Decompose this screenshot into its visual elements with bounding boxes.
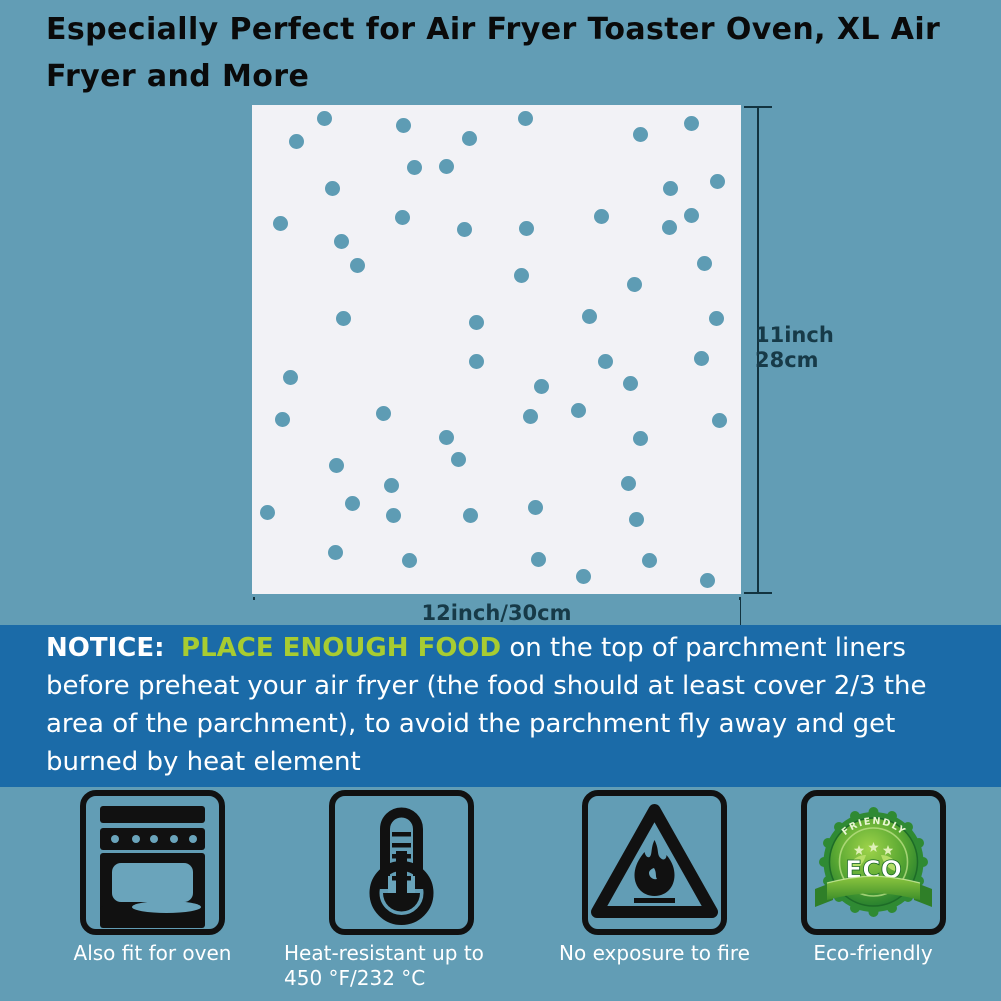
perforation-hole (334, 234, 349, 249)
height-dimension-tick-top (744, 106, 772, 108)
perforation-hole (376, 406, 391, 421)
perforation-hole (712, 413, 727, 428)
perforation-hole (576, 569, 591, 584)
oven-knob (150, 835, 158, 843)
perforation-hole (519, 221, 534, 236)
perforation-hole (700, 573, 715, 588)
perforation-hole (621, 476, 636, 491)
no-fire-icon (582, 790, 727, 935)
perforation-hole (275, 412, 290, 427)
feature-item-heat-resistant: Heat-resistant up to 450 °F/232 °C (276, 790, 526, 991)
oven-base (100, 906, 205, 928)
warning-triangle-flame-glyph (588, 796, 721, 929)
perforation-hole (523, 409, 538, 424)
oven-knob (111, 835, 119, 843)
perforation-hole (594, 209, 609, 224)
perforation-hole (571, 403, 586, 418)
oven-control-panel (100, 828, 205, 850)
perforation-hole (457, 222, 472, 237)
perforation-hole (345, 496, 360, 511)
height-dimension-label: 11inch 28cm (755, 323, 834, 373)
feature-item-oven: Also fit for oven (35, 790, 270, 966)
feature-row: Also fit for oven (0, 790, 1001, 1001)
feature-caption: Eco-friendly (783, 941, 963, 966)
perforation-hole (518, 111, 533, 126)
perforation-hole (386, 508, 401, 523)
perforation-hole (684, 208, 699, 223)
notice-text: NOTICE: PLACE ENOUGH FOOD on the top of … (46, 629, 976, 781)
feature-caption: Also fit for oven (35, 941, 270, 966)
perforation-hole (395, 210, 410, 225)
notice-label: NOTICE: (46, 633, 165, 663)
perforation-hole (582, 309, 597, 324)
perforation-hole (514, 268, 529, 283)
feature-item-eco-friendly: FRIENDLY ECO Eco-frien (783, 790, 963, 966)
oven-knob (170, 835, 178, 843)
perforation-hole (623, 376, 638, 391)
perforation-hole (642, 553, 657, 568)
perforation-hole (328, 545, 343, 560)
perforation-hole (633, 127, 648, 142)
perforation-hole (462, 131, 477, 146)
oven-window (112, 863, 193, 902)
perforation-hole (694, 351, 709, 366)
perforation-hole (627, 277, 642, 292)
perforation-hole (531, 552, 546, 567)
eco-badge-glyph: FRIENDLY ECO (807, 796, 940, 929)
perforation-hole (469, 354, 484, 369)
perforation-hole (528, 500, 543, 515)
perforation-hole (710, 174, 725, 189)
oven-icon (80, 790, 225, 935)
perforation-hole (350, 258, 365, 273)
feature-item-no-fire: No exposure to fire (532, 790, 777, 966)
perforation-hole (336, 311, 351, 326)
perforation-hole (396, 118, 411, 133)
height-dimension-tick-bottom (744, 592, 772, 594)
oven-knob (132, 835, 140, 843)
perforation-hole (469, 315, 484, 330)
perforation-hole (283, 370, 298, 385)
feature-caption: Heat-resistant up to 450 °F/232 °C (276, 941, 526, 991)
page-title: Especially Perfect for Air Fryer Toaster… (46, 6, 976, 100)
perforation-hole (402, 553, 417, 568)
thermometer-icon (329, 790, 474, 935)
perforation-hole (439, 430, 454, 445)
eco-badge-icon: FRIENDLY ECO (801, 790, 946, 935)
perforation-hole (329, 458, 344, 473)
perforation-hole (407, 160, 422, 175)
perforation-hole (439, 159, 454, 174)
oven-knob (189, 835, 197, 843)
perforation-hole (697, 256, 712, 271)
notice-banner: NOTICE: PLACE ENOUGH FOOD on the top of … (0, 625, 1001, 787)
thermometer-glyph (335, 796, 468, 929)
perforation-hole (325, 181, 340, 196)
perforation-hole (629, 512, 644, 527)
perforation-hole (317, 111, 332, 126)
perforation-hole (384, 478, 399, 493)
perforation-hole (463, 508, 478, 523)
notice-highlight: PLACE ENOUGH FOOD (181, 633, 501, 663)
perforation-hole (534, 379, 549, 394)
perforation-hole (663, 181, 678, 196)
perforation-hole (260, 505, 275, 520)
perforation-hole (709, 311, 724, 326)
width-dimension-label: 12inch/30cm (253, 600, 740, 626)
perforation-hole (598, 354, 613, 369)
perforation-hole (633, 431, 648, 446)
perforation-hole (273, 216, 288, 231)
oven-top-bar (100, 806, 205, 823)
perforation-hole (662, 220, 677, 235)
parchment-sheet-image (252, 105, 741, 594)
feature-caption: No exposure to fire (532, 941, 777, 966)
perforation-hole (451, 452, 466, 467)
perforation-hole (289, 134, 304, 149)
oven-handle (132, 901, 201, 913)
perforation-hole (684, 116, 699, 131)
